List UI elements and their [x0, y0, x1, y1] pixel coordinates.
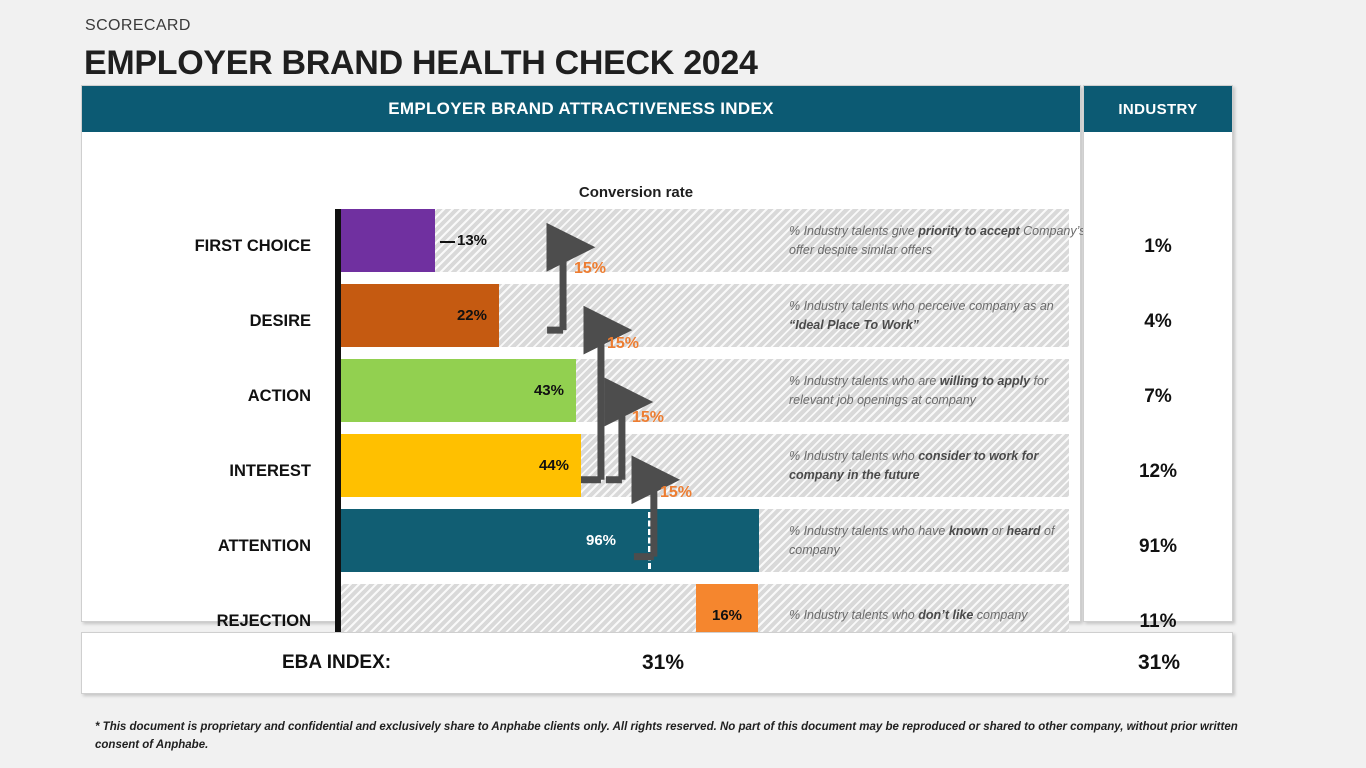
- category-label-desire: DESIRE: [82, 284, 324, 359]
- bar-track-action: 43% % Industry talents who are willing t…: [341, 359, 1069, 422]
- industry-value-interest: 12%: [1084, 434, 1232, 509]
- conversion-rate-value-1: 15%: [574, 260, 606, 278]
- bar-attention[interactable]: 96%: [341, 509, 759, 572]
- bar-value-attention: 96%: [586, 532, 616, 549]
- category-label-first-choice: FIRST CHOICE: [82, 209, 324, 284]
- chart-panel-title: EMPLOYER BRAND ATTRACTIVENESS INDEX: [388, 99, 773, 119]
- bar-desire[interactable]: 22%: [341, 284, 499, 347]
- description-text-action: % Industry talents who are willing to ap…: [789, 372, 1089, 408]
- row-description-desire: % Industry talents who perceive company …: [789, 284, 1089, 347]
- conversion-rate-value-4: 15%: [660, 484, 692, 502]
- category-label-action: ACTION: [82, 359, 324, 434]
- bar-track-first-choice: 13% % Industry talents give priority to …: [341, 209, 1069, 272]
- disclaimer-text: * This document is proprietary and confi…: [95, 719, 1245, 755]
- attractiveness-index-panel: EMPLOYER BRAND ATTRACTIVENESS INDEX Conv…: [81, 85, 1081, 622]
- eba-index-label: EBA INDEX:: [282, 633, 391, 693]
- row-description-interest: % Industry talents who consider to work …: [789, 434, 1089, 497]
- category-label-interest: INTEREST: [82, 434, 324, 509]
- description-text-desire: % Industry talents who perceive company …: [789, 297, 1089, 333]
- description-text-attention: % Industry talents who have known or hea…: [789, 522, 1089, 558]
- eba-index-row: EBA INDEX: 31% 31%: [81, 632, 1233, 694]
- bar-action[interactable]: 43%: [341, 359, 576, 422]
- conversion-rate-value-3: 15%: [632, 409, 664, 427]
- bar-interest[interactable]: 44%: [341, 434, 581, 497]
- description-text-rejection: % Industry talents who don’t like compan…: [789, 606, 1028, 624]
- industry-panel: INDUSTRY 1% 4% 7% 12% 91% 11%: [1083, 85, 1233, 622]
- bar-track-desire: 22% % Industry talents who perceive comp…: [341, 284, 1069, 347]
- industry-value-attention: 91%: [1084, 509, 1232, 584]
- industry-panel-title: INDUSTRY: [1118, 101, 1197, 118]
- bar-value-desire: 22%: [457, 307, 499, 324]
- row-description-first-choice: % Industry talents give priority to acce…: [789, 209, 1089, 272]
- bar-value-first-choice: 13%: [435, 232, 499, 249]
- row-description-action: % Industry talents who are willing to ap…: [789, 359, 1089, 422]
- eba-index-industry-value: 31%: [1084, 633, 1234, 693]
- industry-panel-header: INDUSTRY: [1084, 86, 1232, 132]
- conversion-rate-value-2: 15%: [607, 335, 639, 353]
- industry-value-desire: 4%: [1084, 284, 1232, 359]
- industry-value-first-choice: 1%: [1084, 209, 1232, 284]
- bar-value-action: 43%: [534, 382, 576, 399]
- bar-track-interest: 44% % Industry talents who consider to w…: [341, 434, 1069, 497]
- description-text-interest: % Industry talents who consider to work …: [789, 447, 1089, 483]
- industry-values-list: 1% 4% 7% 12% 91% 11%: [1084, 132, 1232, 621]
- eba-index-company-value: 31%: [642, 633, 684, 693]
- bar-first-choice[interactable]: 13%: [341, 209, 435, 272]
- bar-value-interest: 44%: [539, 457, 581, 474]
- category-label-attention: ATTENTION: [82, 509, 324, 584]
- conversion-rate-title: Conversion rate: [516, 184, 756, 201]
- attention-threshold-marker: [648, 512, 651, 569]
- chart-panel-header: EMPLOYER BRAND ATTRACTIVENESS INDEX: [82, 86, 1080, 132]
- row-description-attention: % Industry talents who have known or hea…: [789, 509, 1089, 572]
- page-title: EMPLOYER BRAND HEALTH CHECK 2024: [84, 44, 758, 83]
- description-text-first-choice: % Industry talents give priority to acce…: [789, 222, 1089, 258]
- scorecard-eyebrow: SCORECARD: [85, 17, 191, 35]
- industry-value-action: 7%: [1084, 359, 1232, 434]
- chart-body: Conversion rate FIRST CHOICE 13% % Indus…: [82, 132, 1080, 621]
- bar-value-rejection: 16%: [712, 607, 742, 624]
- bar-track-attention: 96% % Industry talents who have known or…: [341, 509, 1069, 572]
